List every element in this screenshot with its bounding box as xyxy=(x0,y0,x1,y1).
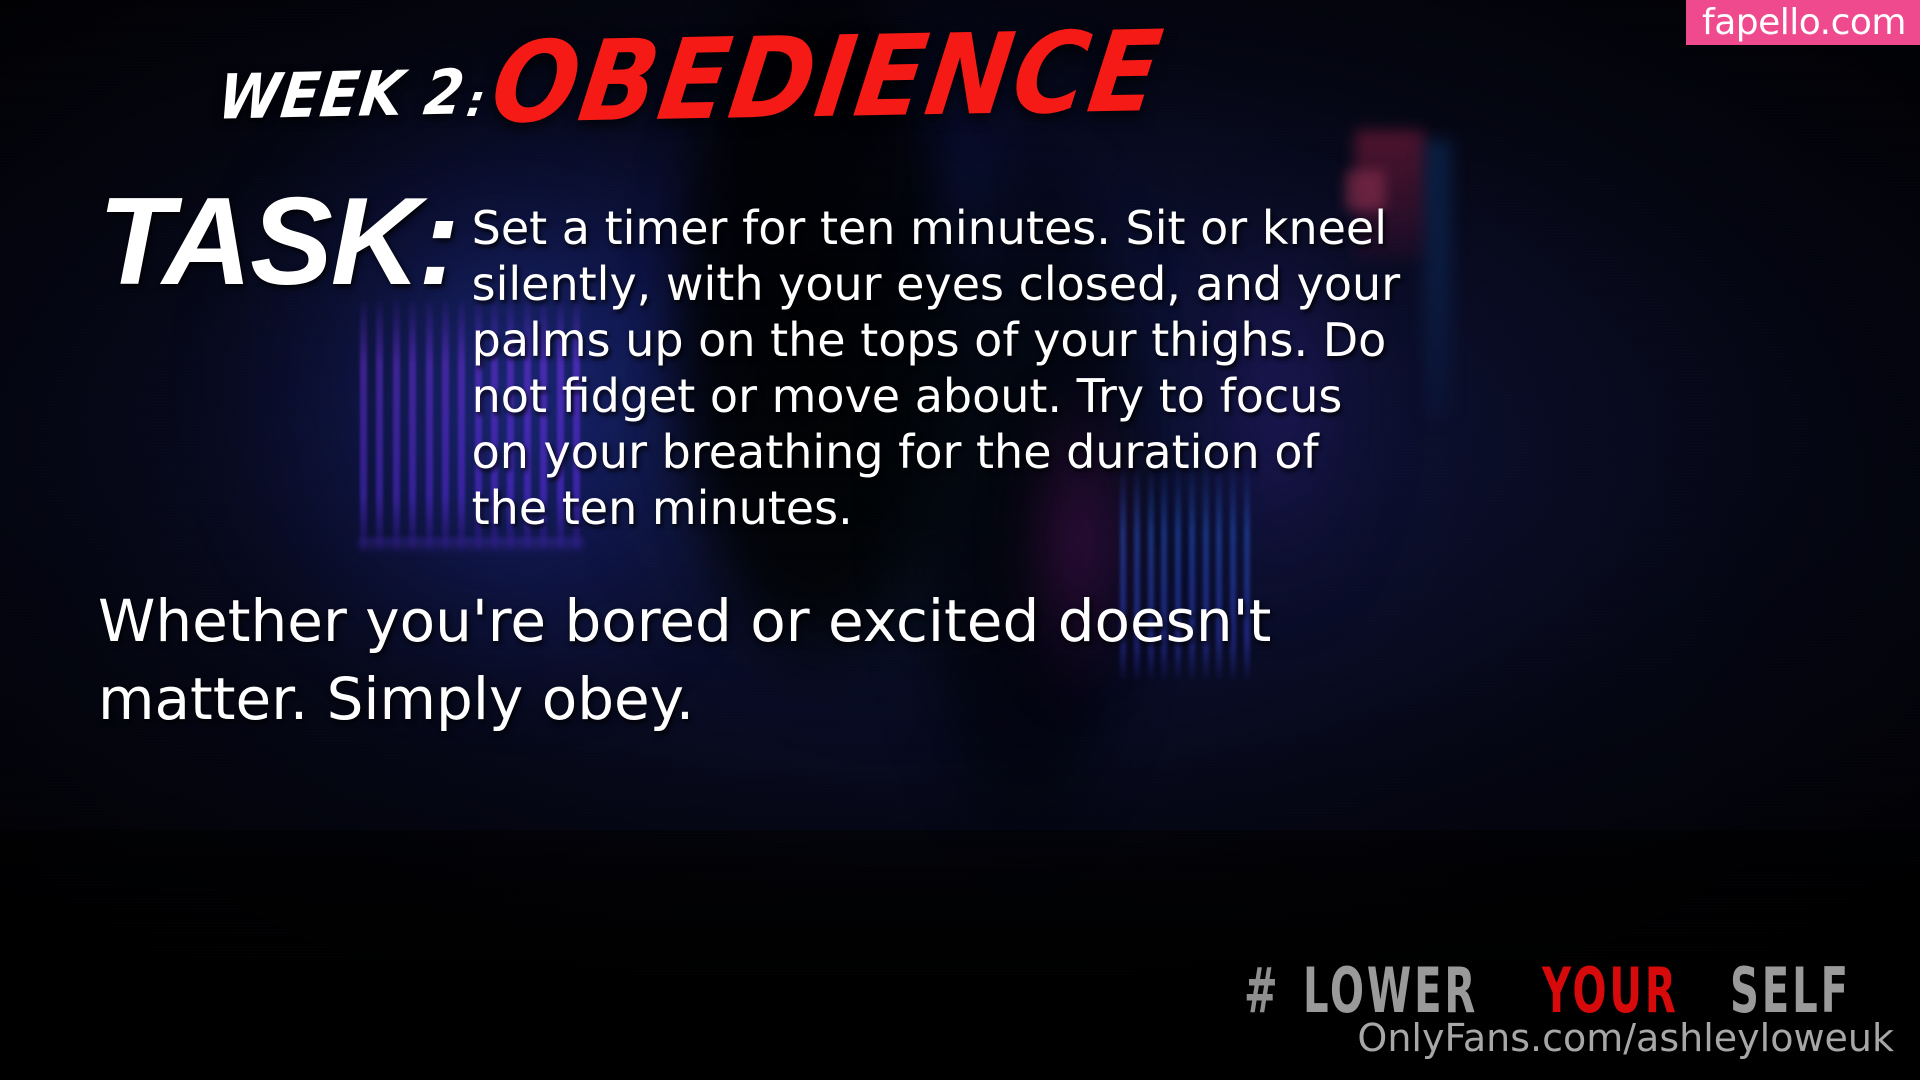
hashtag-symbol: # xyxy=(1244,960,1281,1022)
background-noise-texture xyxy=(0,0,1920,1080)
hashtag-branding: # LOWER YOUR SELF xyxy=(1244,960,1898,1022)
week-label: WEEK 2 xyxy=(215,61,468,128)
theme-title: OBEDIENCE xyxy=(486,22,1168,134)
task-body-text: Set a timer for ten minutes. Sit or knee… xyxy=(472,200,1407,536)
fapello-watermark-badge: fapello.com xyxy=(1686,0,1920,45)
closing-statement: Whether you're bored or excited doesn't … xyxy=(98,582,1498,738)
onlyfans-handle: OnlyFans.com/ashleyloweuk xyxy=(1357,1018,1894,1058)
week-colon: : xyxy=(463,76,488,127)
background-photo xyxy=(0,0,1920,1080)
header-title-row: WEEK 2 : OBEDIENCE xyxy=(0,8,1920,148)
hashtag-word-self: SELF xyxy=(1730,960,1851,1022)
fapello-watermark-label: fapello.com xyxy=(1702,5,1906,41)
task-label: TASK: xyxy=(98,186,458,536)
task-block: TASK: Set a timer for ten minutes. Sit o… xyxy=(98,186,1518,536)
poster-canvas: fapello.com WEEK 2 : OBEDIENCE TASK: Set… xyxy=(0,0,1920,1080)
hashtag-word-lower: LOWER xyxy=(1303,960,1478,1022)
hashtag-word-your: YOUR xyxy=(1542,960,1679,1022)
